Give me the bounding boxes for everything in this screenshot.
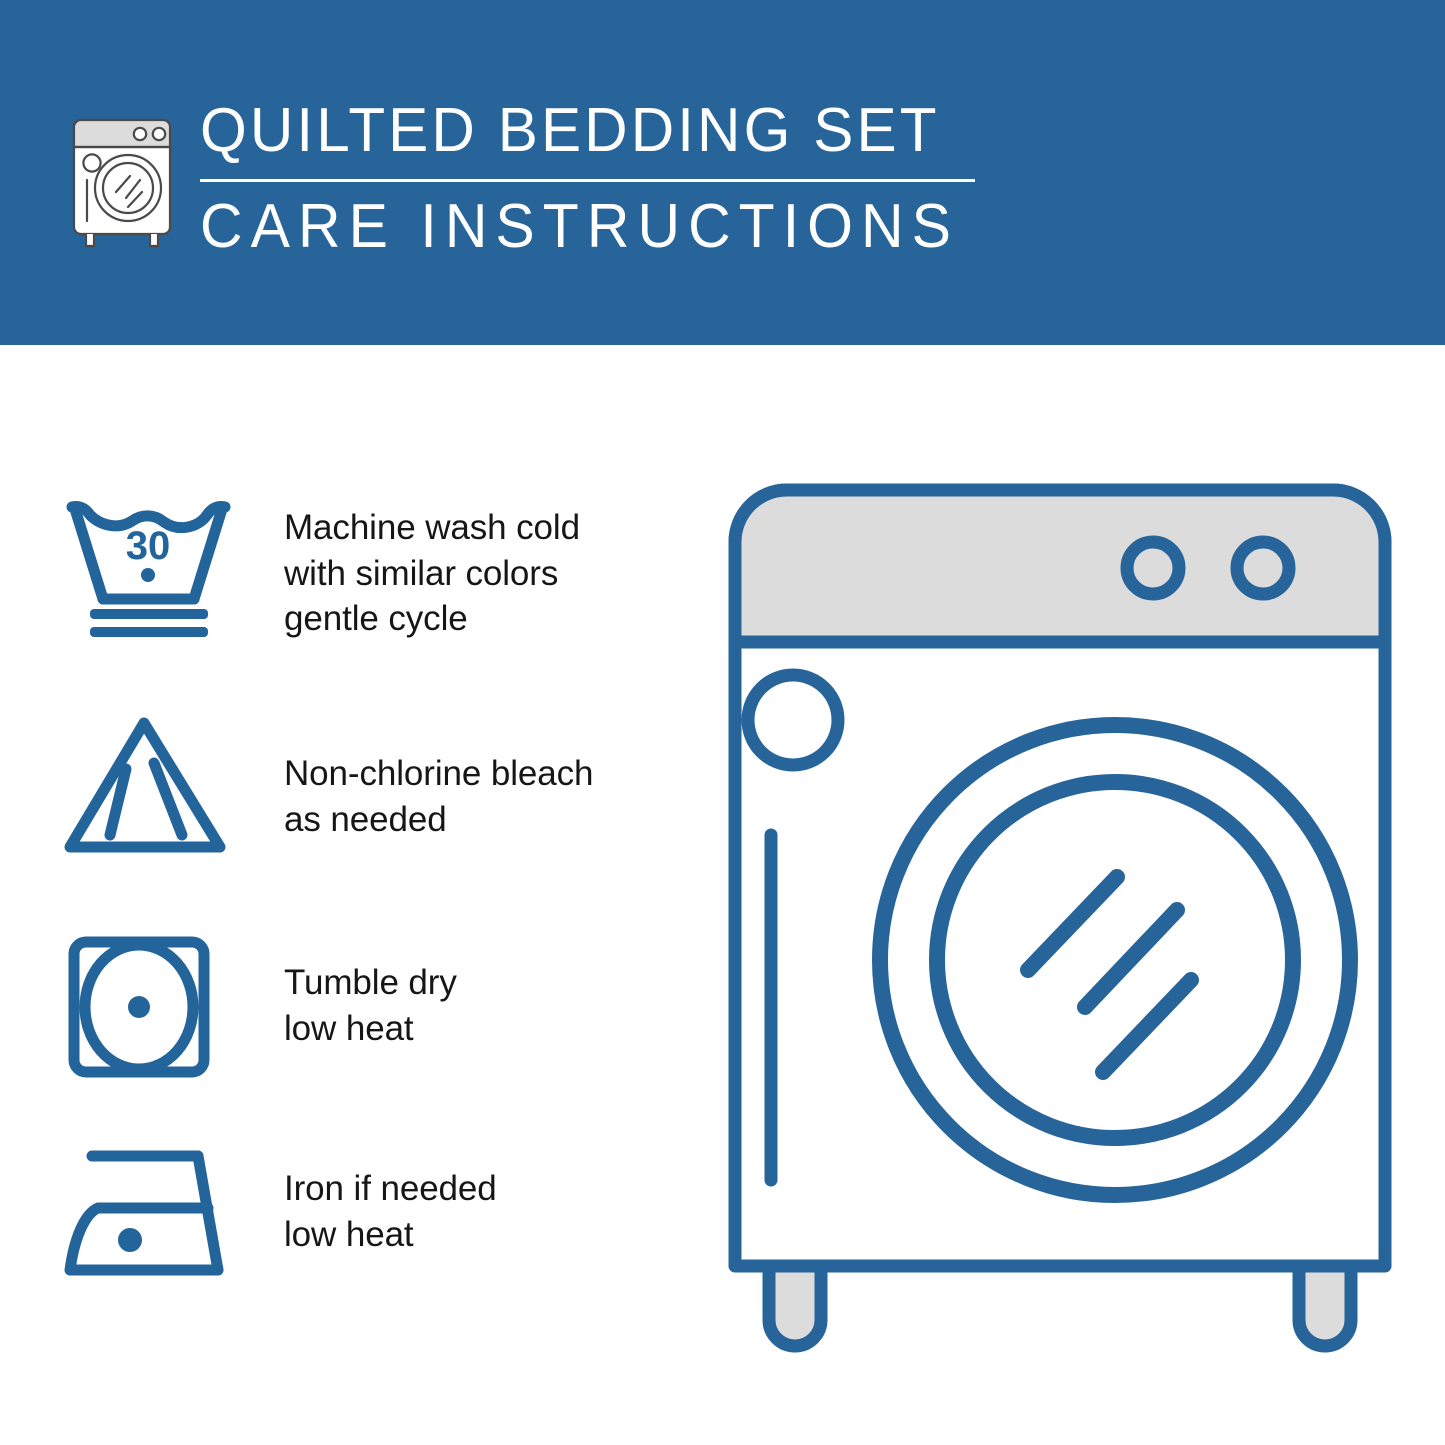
care-instruction-text: Iron if needed low heat (284, 1140, 497, 1257)
care-instruction-row: Tumble dry low heat (0, 930, 700, 1080)
washer-door-inner-ring (937, 782, 1293, 1138)
washing-machine-icon (66, 106, 178, 251)
care-instruction-list: 30 Machine wash cold with similar colors… (0, 345, 700, 1445)
care-instruction-row: 30 Machine wash cold with similar colors… (0, 495, 700, 645)
iron-icon (62, 1140, 242, 1290)
dry-heat-dot-icon (128, 996, 150, 1018)
care-instruction-row: Iron if needed low heat (0, 1140, 700, 1290)
header-text-block: QUILTED BEDDING SET CARE INSTRUCTIONS (200, 100, 1000, 258)
care-instruction-row: Non-chlorine bleach as needed (0, 713, 700, 863)
page-subtitle: CARE INSTRUCTIONS (200, 196, 960, 258)
wash-dot-icon (141, 568, 155, 582)
page-title: QUILTED BEDDING SET (200, 100, 976, 162)
front-load-washing-machine-illustration (725, 480, 1395, 1360)
washer-dial-icon (748, 675, 838, 765)
header-divider (200, 179, 975, 182)
machine-wash-tub-icon: 30 (62, 495, 242, 645)
tumble-dry-icon (62, 930, 242, 1080)
wash-temperature-label: 30 (126, 524, 171, 568)
care-instructions-infographic: QUILTED BEDDING SET CARE INSTRUCTIONS (0, 0, 1445, 1445)
care-instruction-text: Tumble dry low heat (284, 930, 457, 1051)
header-banner: QUILTED BEDDING SET CARE INSTRUCTIONS (0, 0, 1445, 345)
non-chlorine-bleach-triangle-icon (62, 713, 242, 863)
care-instruction-text: Non-chlorine bleach as needed (284, 713, 593, 842)
washer-knob-icon (1237, 542, 1289, 594)
washer-knob-icon (1127, 542, 1179, 594)
iron-heat-dot-icon (118, 1228, 142, 1252)
care-instruction-text: Machine wash cold with similar colors ge… (284, 495, 580, 642)
